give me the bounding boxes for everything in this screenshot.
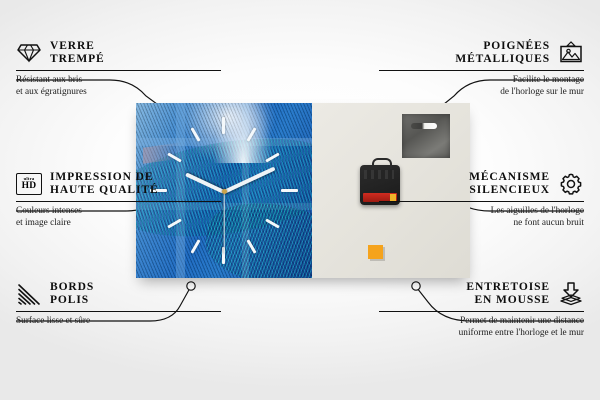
- callout-impression-hd: ultra HD IMPRESSION DE HAUTE QUALITÉ Cou…: [16, 171, 221, 229]
- callout-poignees: POIGNÉES MÉTALLIQUES Facilite le montage…: [379, 40, 584, 98]
- callout-title: POIGNÉES MÉTALLIQUES: [455, 40, 550, 66]
- callout-title: IMPRESSION DE HAUTE QUALITÉ: [50, 171, 159, 197]
- callout-header: POIGNÉES MÉTALLIQUES: [379, 40, 584, 66]
- callout-mecanisme: MÉCANISME SILENCIEUX Les aiguilles de l'…: [379, 171, 584, 229]
- callout-title: VERRE TREMPÉ: [50, 40, 105, 66]
- ultra-hd-badge-icon: ultra HD: [16, 172, 42, 196]
- callout-entretoise: ENTRETOISE EN MOUSSE Permet de maintenir…: [379, 281, 584, 339]
- divider: [16, 311, 221, 312]
- callout-bords-polis: BORDS POLIS Surface lisse et sûre: [16, 281, 221, 328]
- divider: [16, 70, 221, 71]
- keyhole-slot: [411, 123, 437, 129]
- callout-verre-trempe: VERRE TREMPÉ Résistant aux bris et aux é…: [16, 40, 221, 98]
- callout-header: BORDS POLIS: [16, 281, 221, 307]
- callout-subtitle: Permet de maintenir une distance uniform…: [379, 316, 584, 339]
- second-hand: [223, 192, 224, 254]
- wall-frame-icon: [558, 41, 584, 65]
- callout-subtitle: Facilite le montage de l'horloge sur le …: [379, 75, 584, 98]
- callout-title: MÉCANISME SILENCIEUX: [469, 171, 550, 197]
- callout-title: ENTRETOISE EN MOUSSE: [466, 281, 550, 307]
- hour-tick: [281, 189, 298, 192]
- foam-spacer: [368, 245, 383, 259]
- callout-header: ultra HD IMPRESSION DE HAUTE QUALITÉ: [16, 171, 221, 197]
- callout-subtitle: Résistant aux bris et aux égratignures: [16, 75, 221, 98]
- hand-hub: [222, 189, 227, 194]
- badge-main-text: HD: [22, 182, 37, 192]
- callout-title: BORDS POLIS: [50, 281, 94, 307]
- gear-icon: [558, 172, 584, 196]
- divider: [379, 70, 584, 71]
- divider: [16, 201, 221, 202]
- hour-tick: [222, 117, 225, 134]
- callout-subtitle: Couleurs intenses et image claire: [16, 206, 221, 229]
- foam-spacer-arrow-icon: [558, 282, 584, 306]
- divider: [379, 201, 584, 202]
- callout-subtitle: Surface lisse et sûre: [16, 316, 221, 328]
- polished-edge-icon: [16, 282, 42, 306]
- metal-hanger-plate: [402, 114, 450, 158]
- hanger-loop: [372, 158, 392, 169]
- diamond-icon: [16, 41, 42, 65]
- divider: [379, 311, 584, 312]
- infographic-stage: VERRE TREMPÉ Résistant aux bris et aux é…: [0, 0, 600, 400]
- callout-header: VERRE TREMPÉ: [16, 40, 221, 66]
- callout-header: MÉCANISME SILENCIEUX: [379, 171, 584, 197]
- callout-header: ENTRETOISE EN MOUSSE: [379, 281, 584, 307]
- callout-subtitle: Les aiguilles de l'horloge ne font aucun…: [379, 206, 584, 229]
